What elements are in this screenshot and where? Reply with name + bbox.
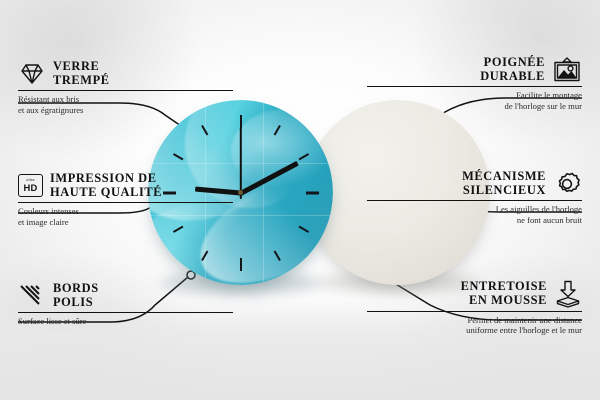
feature-subtitle-line1: Facilite le montage	[367, 90, 582, 100]
second-hand	[240, 127, 242, 199]
feature-header: BORDS POLIS	[18, 282, 233, 309]
feature-header: ultra HD IMPRESSION DE HAUTE QUALITÉ	[18, 172, 233, 199]
feature-rule	[18, 90, 233, 91]
feature-title: IMPRESSION DE HAUTE QUALITÉ	[50, 172, 162, 199]
feature-poignee-durable: POIGNÉE DURABLE Facilite le montage de l…	[367, 56, 582, 111]
feature-title: BORDS POLIS	[53, 282, 99, 309]
feature-subtitle-line2: et image claire	[18, 217, 233, 227]
feature-header: POIGNÉE DURABLE	[367, 56, 582, 83]
feature-header: ENTRETOISE EN MOUSSE	[367, 280, 582, 308]
feature-header: VERRE TREMPÉ	[18, 60, 233, 87]
feature-subtitle-line1: Les aiguilles de l'horloge	[367, 204, 582, 214]
feature-title: POIGNÉE DURABLE	[480, 56, 545, 83]
feature-rule	[367, 311, 582, 312]
feature-rule	[18, 312, 233, 313]
feature-bords-polis: BORDS POLIS Surface lisse et sûre	[18, 282, 233, 327]
ultra-hd-icon-main-text: HD	[24, 183, 38, 192]
feature-subtitle-line1: Couleurs intenses	[18, 206, 233, 216]
feature-rule	[18, 202, 233, 203]
feature-rule	[367, 200, 582, 201]
feature-header: MÉCANISME SILENCIEUX	[367, 170, 582, 197]
feature-subtitle-line2: et aux égratignures	[18, 105, 233, 115]
hands-center-cap	[238, 190, 243, 195]
feature-title: MÉCANISME SILENCIEUX	[462, 170, 546, 197]
ultra-hd-icon: ultra HD	[18, 174, 43, 197]
feature-rule	[367, 86, 582, 87]
infographic-canvas: VERRE TREMPÉ Résistant aux bris et aux é…	[0, 0, 600, 400]
feature-title: ENTRETOISE EN MOUSSE	[461, 280, 547, 307]
feature-title: VERRE TREMPÉ	[53, 60, 110, 87]
feature-entretoise-en-mousse: ENTRETOISE EN MOUSSE Permet de maintenir…	[367, 280, 582, 336]
feature-verre-trempe: VERRE TREMPÉ Résistant aux bris et aux é…	[18, 60, 233, 115]
gear-icon	[553, 170, 582, 197]
polished-edges-icon	[18, 284, 46, 308]
diamond-icon	[18, 62, 46, 86]
feature-subtitle-line1: Surface lisse et sûre	[18, 316, 233, 326]
feature-subtitle-line2: ne font aucun bruit	[367, 215, 582, 225]
picture-hanger-icon	[552, 57, 582, 83]
feature-mecanisme-silencieux: MÉCANISME SILENCIEUX Les aiguilles de l'…	[367, 170, 582, 225]
feature-subtitle-line1: Résistant aux bris	[18, 94, 233, 104]
feature-subtitle-line1: Permet de maintenir une distance	[367, 315, 582, 325]
feature-subtitle-line2: uniforme entre l'horloge et le mur	[367, 325, 582, 335]
feature-subtitle-line2: de l'horloge sur le mur	[367, 101, 582, 111]
foam-spacer-icon	[554, 280, 582, 308]
feature-impression-haute-qualite: ultra HD IMPRESSION DE HAUTE QUALITÉ Cou…	[18, 172, 233, 227]
